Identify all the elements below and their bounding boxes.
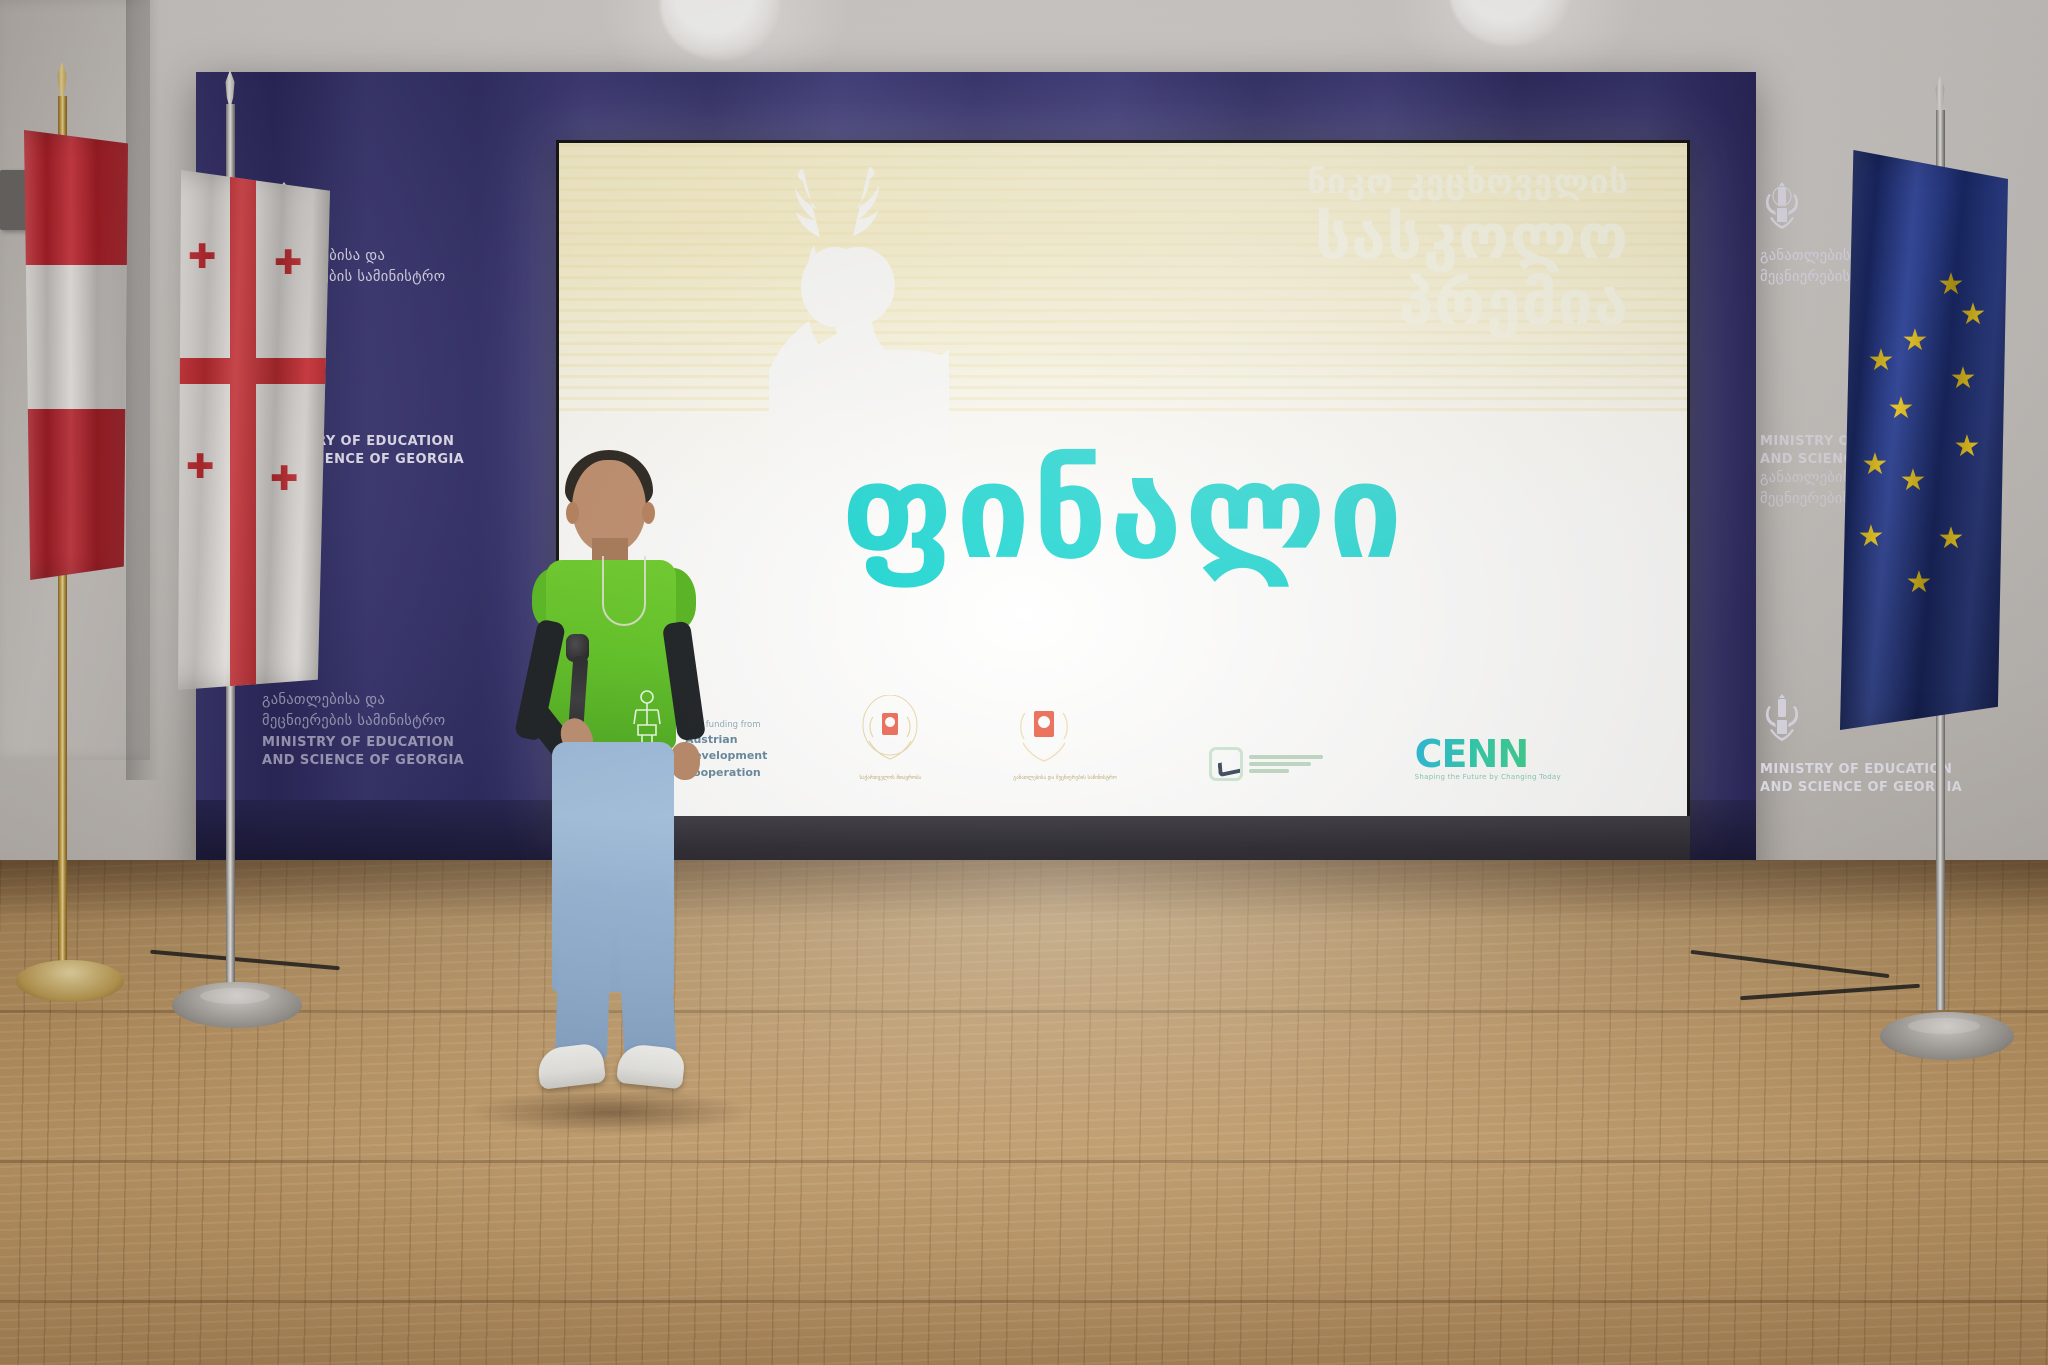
georgia-state-crest-icon-2: [1013, 695, 1075, 769]
sponsor-georgia-crest-1: საქართველოს მთავრობა: [859, 695, 921, 781]
sponsor-georgia-crest-2: განათლებისა და მეცნიერების სამინისტრო: [1013, 695, 1117, 781]
presenter-leg-right: [615, 879, 676, 1061]
screen-title-line3: პრემია: [1069, 272, 1629, 334]
screen-title-line1: ნიკო კეცხოველის: [1069, 165, 1629, 198]
ministry-en-text-4: MINISTRY OF EDUCATIONAND SCIENCE OF GEOR…: [1760, 761, 1962, 796]
ministry-en-text-2: MINISTRY OF EDUCATIONAND SCIENCE OF GEOR…: [262, 734, 464, 769]
flag-eu: ★ ★ ★ ★ ★ ★ ★ ★ ★ ★ ★ ★: [1840, 150, 2008, 730]
ministry-ka-text-2: განათლებისა დამეცნიერების სამინისტრო: [262, 690, 464, 731]
sponsor-crest-2-caption: განათლებისა და მეცნიერების სამინისტრო: [1013, 775, 1117, 781]
flag-georgia: ✚ ✚ ✚ ✚: [178, 170, 330, 690]
georgia-coat-of-arms-icon: [1760, 690, 1804, 746]
flag-austria: [24, 130, 128, 580]
flag-eu-folds: [1840, 150, 2008, 730]
presenter-lanyard: [602, 556, 646, 626]
cenn-logo-text: CENN: [1415, 735, 1561, 773]
floor-grain: [0, 860, 2048, 1365]
georgia-coat-of-arms-icon: [1760, 178, 1804, 234]
georgia-state-crest-icon: [859, 695, 921, 769]
backdrop-ministry-block-left-3: განათლებისა დამეცნიერების სამინისტრო MIN…: [262, 690, 464, 769]
floor-shadow-band: [0, 860, 2048, 920]
sponsor-cenn: CENN Shaping the Future by Changing Toda…: [1415, 735, 1561, 781]
flagpole-base-ring-eu: [1908, 1018, 1980, 1034]
screen-title-line2: სასკოლო: [1069, 206, 1629, 268]
flagpole-base-ring-georgia: [200, 988, 270, 1004]
presenter: ეკოლიდერი 2021: [510, 460, 730, 1150]
parquet-floor: [0, 860, 2048, 1365]
sponsor-partner-green-mark: [1209, 747, 1323, 781]
flagpole-base-austria: [16, 960, 124, 1002]
screen-header-title: ნიკო კეცხოველის სასკოლო პრემია: [1069, 165, 1629, 334]
sponsor-partner-label-lines: [1249, 755, 1323, 773]
presenter-leg-left: [555, 879, 613, 1061]
presenter-hand-right: [670, 742, 700, 780]
wall-corner-shadow: [126, 0, 160, 780]
sponsor-crest-1-caption: საქართველოს მთავრობა: [859, 775, 921, 781]
green-checkmark-icon: [1209, 747, 1243, 781]
presenter-ear-right: [642, 502, 655, 524]
presenter-shoe-left: [536, 1042, 606, 1090]
cenn-tagline: Shaping the Future by Changing Today: [1415, 773, 1561, 781]
presenter-ear-left: [566, 502, 579, 524]
stage-photo-scene: განათლებისა დამეცნიერების სამინისტრო MIN…: [0, 0, 2048, 1365]
flag-austria-folds: [24, 130, 128, 580]
flag-georgia-folds: [178, 170, 330, 690]
